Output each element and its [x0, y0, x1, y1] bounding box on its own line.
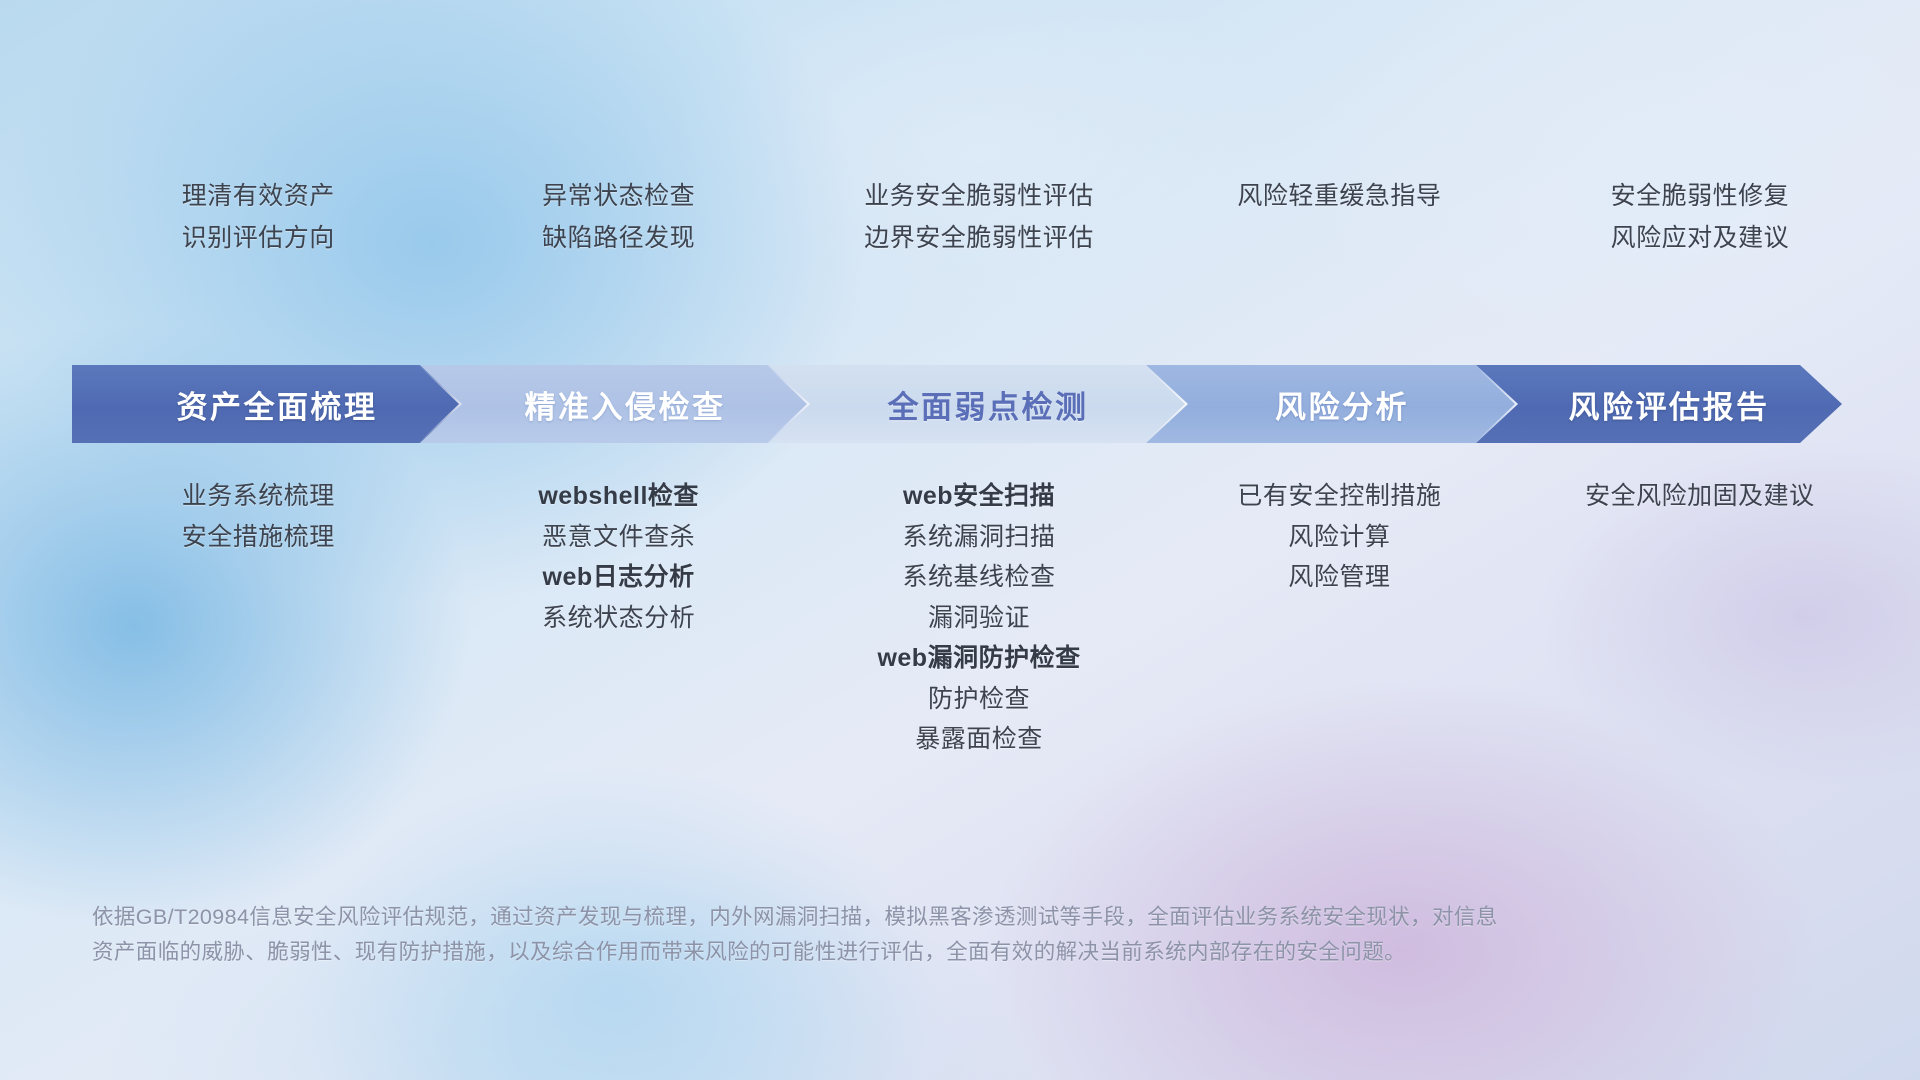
top-note: 安全脆弱性修复 [1611, 176, 1790, 218]
list-item: 系统基线检查 [903, 557, 1056, 598]
top-note: 识别评估方向 [182, 218, 335, 260]
chevron-label: 资产全面梳理 [177, 382, 378, 427]
top-note: 业务安全脆弱性评估 [864, 176, 1094, 218]
footer-line: 依据GB/T20984信息安全风险评估规范，通过资产发现与梳理，内外网漏洞扫描，… [92, 900, 1512, 935]
chevron-stage-4[interactable]: 风险分析 [1146, 365, 1518, 443]
footer-description: 依据GB/T20984信息安全风险评估规范，通过资产发现与梳理，内外网漏洞扫描，… [92, 900, 1512, 970]
top-notes-stage-5: 安全脆弱性修复 风险应对及建议 [1520, 176, 1880, 259]
list-item: 风险计算 [1288, 517, 1390, 558]
list-item: web安全扫描 [903, 476, 1055, 517]
list-item: 业务系统梳理 [182, 476, 335, 517]
list-item: 系统状态分析 [542, 598, 695, 639]
top-note: 异常状态检查 [542, 176, 695, 218]
chevron-label: 全面弱点检测 [888, 382, 1089, 427]
top-note: 边界安全脆弱性评估 [864, 218, 1094, 260]
top-notes-stage-4: 风险轻重缓急指导 [1159, 176, 1519, 259]
chevron-label: 风险分析 [1275, 382, 1409, 427]
chevron-stage-5[interactable]: 风险评估报告 [1476, 365, 1842, 443]
chevron-stage-1[interactable]: 资产全面梳理 [72, 365, 462, 443]
detail-list-stage-5: 安全风险加固及建议 [1520, 476, 1880, 760]
process-chevron-band: 资产全面梳理 精准入侵检查 全面弱点检测 风险分析 风险评估报告 [72, 365, 1842, 443]
top-note: 风险应对及建议 [1611, 218, 1790, 260]
chevron-label: 风险评估报告 [1569, 382, 1770, 427]
top-notes-stage-3: 业务安全脆弱性评估 边界安全脆弱性评估 [799, 176, 1159, 259]
list-item: 防护检查 [928, 679, 1030, 720]
top-note: 缺陷路径发现 [542, 218, 695, 260]
top-notes-stage-1: 理清有效资产 识别评估方向 [78, 176, 438, 259]
detail-lists-row: 业务系统梳理 安全措施梳理 webshell检查 恶意文件查杀 web日志分析 … [78, 476, 1880, 760]
list-item: webshell检查 [538, 476, 699, 517]
list-item: web漏洞防护检查 [877, 638, 1080, 679]
list-item: 风险管理 [1288, 557, 1390, 598]
process-diagram: 理清有效资产 识别评估方向 异常状态检查 缺陷路径发现 业务安全脆弱性评估 边界… [0, 0, 1920, 1080]
list-item: 漏洞验证 [928, 598, 1030, 639]
chevron-stage-2[interactable]: 精准入侵检查 [420, 365, 810, 443]
detail-list-stage-1: 业务系统梳理 安全措施梳理 [78, 476, 438, 760]
list-item: 恶意文件查杀 [542, 517, 695, 558]
top-note: 风险轻重缓急指导 [1237, 176, 1441, 218]
list-item: 系统漏洞扫描 [903, 517, 1056, 558]
top-notes-stage-2: 异常状态检查 缺陷路径发现 [438, 176, 798, 259]
list-item: 暴露面检查 [915, 719, 1043, 760]
top-note: 理清有效资产 [182, 176, 335, 218]
top-notes-row: 理清有效资产 识别评估方向 异常状态检查 缺陷路径发现 业务安全脆弱性评估 边界… [78, 176, 1880, 259]
footer-line: 资产面临的威胁、脆弱性、现有防护措施，以及综合作用而带来风险的可能性进行评估，全… [92, 935, 1512, 970]
detail-list-stage-2: webshell检查 恶意文件查杀 web日志分析 系统状态分析 [438, 476, 798, 760]
list-item: 已有安全控制措施 [1237, 476, 1441, 517]
detail-list-stage-3: web安全扫描 系统漏洞扫描 系统基线检查 漏洞验证 web漏洞防护检查 防护检… [799, 476, 1159, 760]
detail-list-stage-4: 已有安全控制措施 风险计算 风险管理 [1159, 476, 1519, 760]
chevron-stage-3[interactable]: 全面弱点检测 [768, 365, 1188, 443]
list-item: 安全风险加固及建议 [1585, 476, 1815, 517]
chevron-label: 精准入侵检查 [525, 382, 726, 427]
list-item: 安全措施梳理 [182, 517, 335, 558]
list-item: web日志分析 [543, 557, 695, 598]
